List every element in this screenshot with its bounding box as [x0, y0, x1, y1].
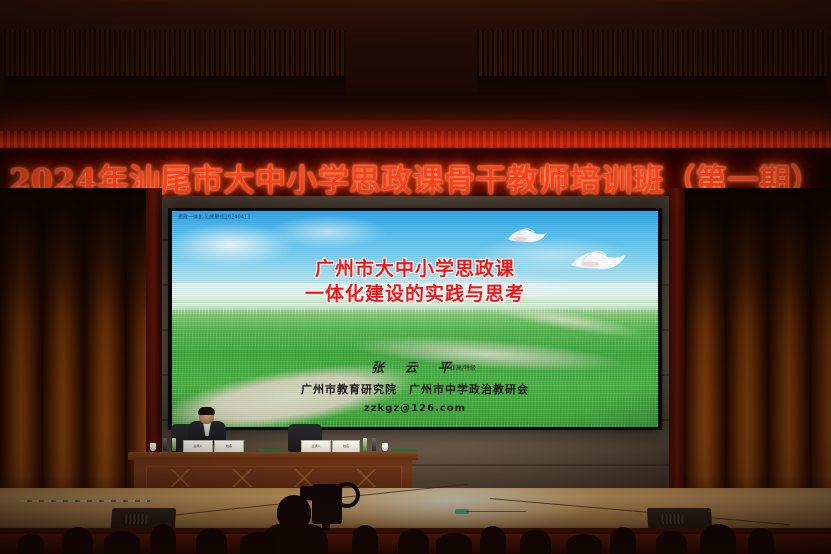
- audience-head-silhouette: [520, 530, 551, 554]
- water-bottle: [163, 438, 167, 451]
- slide-title-line-2: 一体化建设的实践与思考: [172, 282, 658, 307]
- water-bottle: [172, 438, 176, 451]
- slat-shadow-left: [4, 76, 346, 98]
- audience-head-silhouette: [700, 524, 736, 554]
- proscenium-edge-right: [669, 188, 685, 500]
- tea-cup: [382, 443, 388, 451]
- stage-monitor-speaker-icon: [113, 0, 173, 1]
- dove-icon: [504, 223, 548, 249]
- audience-head-silhouette: [610, 527, 636, 554]
- floor-cable: [20, 500, 150, 502]
- water-bottle: [372, 438, 376, 451]
- slide-title-line-1: 广州市大中小学思政课: [172, 257, 658, 282]
- floor-cable: [466, 511, 526, 512]
- audience-head-silhouette: [480, 526, 506, 554]
- audience-head-silhouette: [62, 527, 93, 554]
- audience-head-silhouette: [566, 534, 602, 554]
- cloud-shape: [268, 215, 388, 249]
- acoustic-slat-panel-left: [4, 30, 346, 76]
- water-bottle: [363, 438, 367, 451]
- audience-head-silhouette: [150, 524, 176, 554]
- audience-head-silhouette: [398, 529, 429, 554]
- stage-monitor-speaker-icon: [650, 0, 710, 1]
- slat-shadow-right: [477, 76, 827, 98]
- audience-head-silhouette: [748, 528, 774, 554]
- presenter-organizations: 广州市教育研究院 广州市中学政治教研会: [172, 381, 658, 397]
- audience-head-silhouette: [352, 525, 378, 554]
- presenter-name: 张 云 平: [172, 357, 658, 376]
- audience-head-silhouette: [104, 531, 140, 554]
- audience-head-silhouette: [196, 528, 227, 554]
- projection-screen: 思政一体化-汕尾联视20240413 广州市大中小学思政课 一体化建设的实践与思…: [172, 211, 658, 427]
- presenter-email: zzkgz@126.com: [172, 403, 658, 414]
- nameplate-label: 姓名: [333, 441, 359, 451]
- auditorium-scene: 2024年汕尾市大中小学思政课骨干教师培训班（第一期）: [0, 0, 831, 554]
- slide-title: 广州市大中小学思政课 一体化建设的实践与思考: [172, 257, 658, 307]
- nameplate-label: 主讲人: [302, 441, 330, 451]
- camera-focus-ring-icon: [334, 482, 360, 508]
- audience-head-silhouette: [656, 531, 687, 554]
- audience-head-silhouette: [436, 533, 472, 554]
- slide-header-tag: 思政一体化-汕尾联视20240413: [178, 213, 250, 220]
- speaker-grill: [661, 514, 684, 524]
- tea-cup: [150, 443, 156, 451]
- audience-head-silhouette: [18, 534, 44, 554]
- presentation-slide: 思政一体化-汕尾联视20240413 广州市大中小学思政课 一体化建设的实践与思…: [172, 211, 658, 427]
- presenter-credential: 正高/特级: [450, 363, 476, 372]
- audience-head-silhouette: [240, 532, 276, 554]
- stage-curtain-right-shading: [684, 188, 831, 500]
- acoustic-slat-panel-right: [477, 30, 827, 76]
- camera-operator-head: [277, 495, 311, 529]
- table-diamond-pattern: [150, 469, 396, 487]
- nameplate-label: 姓名: [215, 441, 243, 451]
- nameplate-label: 主持人: [184, 441, 212, 451]
- speaker-hair: [198, 407, 215, 415]
- speaker-grill: [125, 514, 148, 524]
